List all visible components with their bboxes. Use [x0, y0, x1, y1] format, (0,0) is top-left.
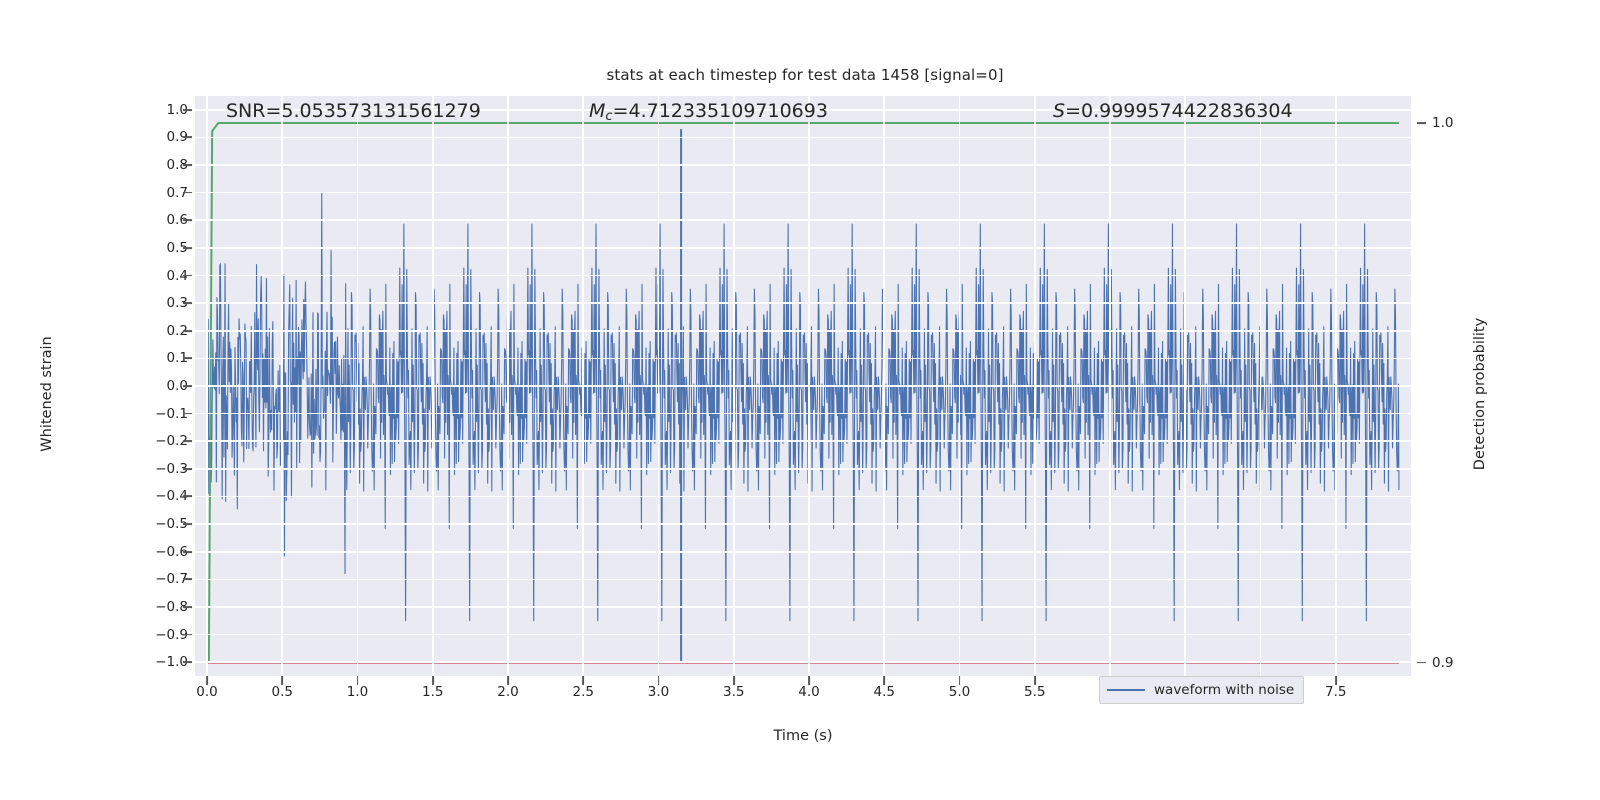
- y-axis-left-tick-mark: [183, 137, 192, 139]
- y-axis-left-tick-label: −0.7: [128, 571, 188, 587]
- y-axis-left-label: Whitened strain: [39, 284, 55, 504]
- annotation-score-symbol: S: [1053, 100, 1065, 122]
- grid-line-horizontal: [195, 413, 1411, 415]
- y-axis-left-tick-label: −0.1: [128, 406, 188, 422]
- y-axis-left-tick-label: 0.0: [128, 378, 188, 394]
- x-axis-tick-mark: [357, 676, 359, 685]
- y-axis-left-tick-mark: [183, 440, 192, 442]
- chart-title: stats at each timestep for test data 145…: [0, 66, 1600, 84]
- y-axis-left-tick-mark: [183, 496, 192, 498]
- x-axis-tick-label: 3.0: [629, 684, 689, 700]
- y-axis-left-tick-label: 1.0: [128, 102, 188, 118]
- x-axis-tick-mark: [959, 676, 961, 685]
- grid-line-horizontal: [195, 468, 1411, 470]
- grid-line-horizontal: [195, 358, 1411, 360]
- y-axis-left-tick-mark: [183, 192, 192, 194]
- x-axis-tick-mark: [658, 676, 660, 685]
- x-axis-tick-mark: [582, 676, 584, 685]
- y-axis-left-tick-mark: [183, 661, 192, 663]
- y-axis-left-tick-mark: [183, 330, 192, 332]
- grid-line-horizontal: [195, 164, 1411, 166]
- x-axis-tick-label: 5.0: [930, 684, 990, 700]
- x-axis-tick-mark: [733, 676, 735, 685]
- waveform-trace: [207, 193, 1399, 620]
- y-axis-left-tick-mark: [183, 468, 192, 470]
- x-axis-tick-label: 5.5: [1005, 684, 1065, 700]
- annotation-chirp-mass-subscript: c: [605, 109, 612, 124]
- y-axis-left-tick-label: 0.8: [128, 157, 188, 173]
- y-axis-left-tick-mark: [183, 634, 192, 636]
- x-axis-tick-mark: [432, 676, 434, 685]
- y-axis-left-tick-mark: [183, 606, 192, 608]
- y-axis-left-tick-mark: [183, 247, 192, 249]
- annotation-score: S=0.9999574422836304: [1053, 100, 1293, 122]
- annotation-score-equals: =: [1065, 100, 1081, 122]
- x-axis-label: Time (s): [195, 728, 1411, 744]
- y-axis-left-tick-label: 0.7: [128, 185, 188, 201]
- y-axis-left-tick-label: 0.2: [128, 323, 188, 339]
- y-axis-left-tick-label: −1.0: [128, 654, 188, 670]
- y-axis-right-tick-mark: [1417, 122, 1426, 124]
- annotation-chirp-mass-equals: =: [613, 100, 629, 122]
- y-axis-left-tick-mark: [183, 302, 192, 304]
- y-axis-left-tick-label: −0.5: [128, 516, 188, 532]
- x-axis-tick-label: 2.0: [478, 684, 538, 700]
- grid-line-horizontal: [195, 192, 1411, 194]
- y-axis-left-tick-label: 0.1: [128, 350, 188, 366]
- y-axis-right-tick-label: 1.0: [1432, 115, 1492, 131]
- y-axis-left-tick-mark: [183, 219, 192, 221]
- y-axis-left-tick-mark: [183, 275, 192, 277]
- y-axis-right-tick-label: 0.9: [1432, 655, 1492, 671]
- y-axis-left-tick-label: 0.5: [128, 240, 188, 256]
- grid-line-horizontal: [195, 302, 1411, 304]
- y-axis-left-tick-mark: [183, 523, 192, 525]
- y-axis-right-tick-mark: [1417, 662, 1426, 664]
- y-axis-left-tick-label: 0.4: [128, 268, 188, 284]
- y-axis-left-tick-label: −0.2: [128, 433, 188, 449]
- y-axis-left-tick-label: 0.6: [128, 212, 188, 228]
- grid-line-horizontal: [195, 579, 1411, 581]
- y-axis-left-tick-mark: [183, 385, 192, 387]
- annotation-chirp-mass-symbol: M: [589, 100, 605, 122]
- y-axis-left-tick-label: 0.9: [128, 129, 188, 145]
- grid-line-horizontal: [195, 634, 1411, 636]
- x-axis-tick-mark: [1335, 676, 1337, 685]
- x-axis-tick-mark: [206, 676, 208, 685]
- y-axis-left-tick-mark: [183, 164, 192, 166]
- y-axis-left-tick-mark: [183, 551, 192, 553]
- grid-line-horizontal: [195, 661, 1411, 663]
- annotation-chirp-mass: Mc=4.712335109710693: [589, 100, 828, 124]
- grid-line-horizontal: [195, 496, 1411, 498]
- y-axis-right-label: Detection probability: [1472, 284, 1488, 504]
- y-axis-left-tick-label: 0.3: [128, 295, 188, 311]
- x-axis-tick-label: 4.5: [854, 684, 914, 700]
- x-axis-tick-label: 0.5: [252, 684, 312, 700]
- x-axis-tick-label: 7.5: [1306, 684, 1366, 700]
- grid-line-horizontal: [195, 385, 1411, 387]
- legend-line-icon: [1107, 689, 1145, 691]
- grid-line-horizontal: [195, 440, 1411, 442]
- annotation-chirp-mass-value: 4.712335109710693: [628, 100, 827, 122]
- grid-line-horizontal: [195, 137, 1411, 139]
- x-axis-tick-label: 1.5: [403, 684, 463, 700]
- x-axis-tick-mark: [281, 676, 283, 685]
- y-axis-left-tick-label: −0.4: [128, 488, 188, 504]
- grid-line-horizontal: [195, 247, 1411, 249]
- annotation-score-value: 0.9999574422836304: [1081, 100, 1293, 122]
- chart-title-text: stats at each timestep for test data 145…: [606, 66, 1003, 84]
- figure-canvas: stats at each timestep for test data 145…: [0, 0, 1600, 800]
- y-axis-left-tick-mark: [183, 109, 192, 111]
- legend-label-waveform: waveform with noise: [1154, 682, 1294, 698]
- y-axis-left-tick-label: −0.9: [128, 627, 188, 643]
- x-axis-tick-mark: [808, 676, 810, 685]
- x-axis-tick-label: 2.5: [553, 684, 613, 700]
- grid-line-horizontal: [195, 551, 1411, 553]
- y-axis-left-tick-mark: [183, 413, 192, 415]
- x-axis-tick-label: 3.5: [704, 684, 764, 700]
- y-axis-left-tick-mark: [183, 578, 192, 580]
- legend: waveform with noise: [1099, 676, 1304, 704]
- x-axis-tick-mark: [883, 676, 885, 685]
- annotation-snr: SNR=5.053573131561279: [226, 100, 481, 122]
- grid-line-horizontal: [195, 219, 1411, 221]
- y-axis-left-tick-mark: [183, 357, 192, 359]
- x-axis-tick-mark: [507, 676, 509, 685]
- x-axis-tick-mark: [1034, 676, 1036, 685]
- grid-line-horizontal: [195, 330, 1411, 332]
- plot-area: [195, 96, 1411, 676]
- grid-line-horizontal: [195, 606, 1411, 608]
- y-axis-left-tick-label: −0.6: [128, 544, 188, 560]
- grid-line-horizontal: [195, 275, 1411, 277]
- y-axis-left-tick-label: −0.3: [128, 461, 188, 477]
- grid-line-horizontal: [195, 523, 1411, 525]
- x-axis-tick-label: 1.0: [328, 684, 388, 700]
- annotation-snr-text: SNR=5.053573131561279: [226, 100, 481, 122]
- y-axis-left-tick-label: −0.8: [128, 599, 188, 615]
- x-axis-tick-label: 4.0: [779, 684, 839, 700]
- x-axis-tick-label: 0.0: [177, 684, 237, 700]
